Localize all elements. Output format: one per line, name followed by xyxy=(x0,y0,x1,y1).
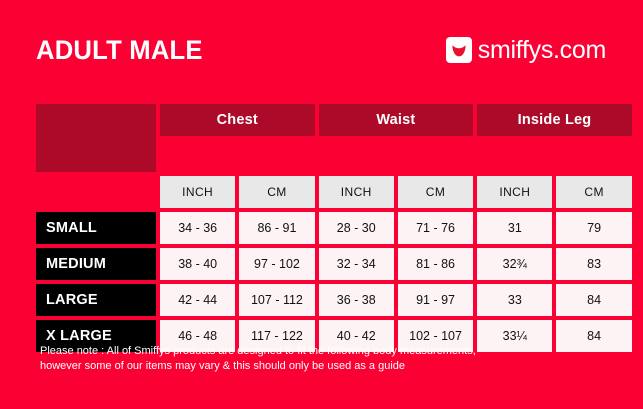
table-unit-header-row: INCH CM INCH CM INCH CM xyxy=(36,176,608,208)
page-header: ADULT MALE smiffys.com xyxy=(0,0,643,100)
group-header-chest: Chest xyxy=(160,104,315,136)
size-label-small: SMALL xyxy=(36,212,156,244)
footnote-line-2: however some of our items may vary & thi… xyxy=(40,359,600,374)
size-label-medium: MEDIUM xyxy=(36,248,156,280)
unit-header-waist-inch: INCH xyxy=(319,176,394,208)
unit-header-waist-cm: CM xyxy=(398,176,473,208)
unit-header-chest-cm: CM xyxy=(239,176,314,208)
brand-name: smiffys.com xyxy=(478,38,606,63)
unit-header-inside-leg-cm: CM xyxy=(556,176,631,208)
cell-medium-waist-inch: 32 - 34 xyxy=(319,248,394,280)
cell-small-waist-inch: 28 - 30 xyxy=(319,212,394,244)
cell-large-waist-cm: 91 - 97 xyxy=(398,284,473,316)
cell-large-waist-inch: 36 - 38 xyxy=(319,284,394,316)
cell-small-waist-cm: 71 - 76 xyxy=(398,212,473,244)
unit-header-chest-inch: INCH xyxy=(160,176,235,208)
cell-small-chest-inch: 34 - 36 xyxy=(160,212,235,244)
table-row: LARGE 42 - 44 107 - 112 36 - 38 91 - 97 … xyxy=(36,284,608,316)
cell-medium-inside-leg-inch: 32¾ xyxy=(477,248,552,280)
table-row: MEDIUM 38 - 40 97 - 102 32 - 34 81 - 86 … xyxy=(36,248,608,280)
group-header-inside-leg: Inside Leg xyxy=(477,104,632,136)
cell-medium-chest-inch: 38 - 40 xyxy=(160,248,235,280)
cell-large-chest-inch: 42 - 44 xyxy=(160,284,235,316)
cell-large-inside-leg-cm: 84 xyxy=(556,284,631,316)
cell-medium-chest-cm: 97 - 102 xyxy=(239,248,314,280)
size-label-large: LARGE xyxy=(36,284,156,316)
cell-large-chest-cm: 107 - 112 xyxy=(239,284,314,316)
size-table: Chest Waist Inside Leg INCH CM INCH CM I… xyxy=(36,104,608,352)
footnote-line-1: Please note : All of Smiffys products ar… xyxy=(40,344,600,359)
cell-medium-inside-leg-cm: 83 xyxy=(556,248,631,280)
page-title: ADULT MALE xyxy=(36,37,203,64)
group-header-waist: Waist xyxy=(319,104,474,136)
table-row: SMALL 34 - 36 86 - 91 28 - 30 71 - 76 31… xyxy=(36,212,608,244)
unit-header-inside-leg-inch: INCH xyxy=(477,176,552,208)
cell-small-chest-cm: 86 - 91 xyxy=(239,212,314,244)
smiffys-smile-icon xyxy=(446,37,472,63)
cell-medium-waist-cm: 81 - 86 xyxy=(398,248,473,280)
unit-header-spacer xyxy=(36,140,156,172)
footnote: Please note : All of Smiffys products ar… xyxy=(40,344,600,374)
size-chart-page: ADULT MALE smiffys.com Chest Waist Insid… xyxy=(0,0,643,409)
cell-large-inside-leg-inch: 33 xyxy=(477,284,552,316)
brand-logo: smiffys.com xyxy=(446,37,606,63)
cell-small-inside-leg-inch: 31 xyxy=(477,212,552,244)
cell-small-inside-leg-cm: 79 xyxy=(556,212,631,244)
